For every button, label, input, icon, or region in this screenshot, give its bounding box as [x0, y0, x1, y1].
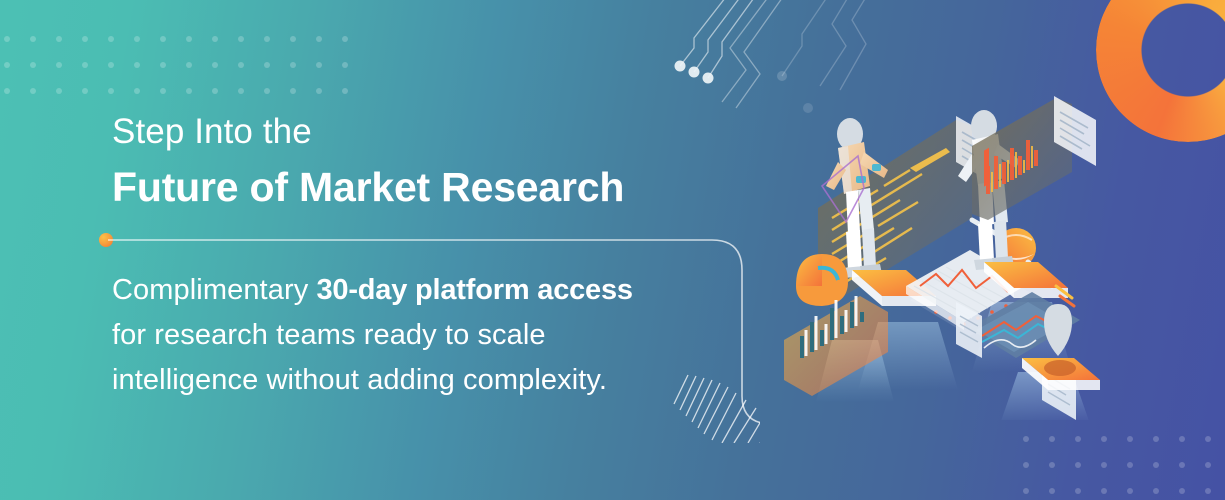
grid-dot — [316, 36, 322, 42]
trace-endpoint-dot — [675, 61, 686, 72]
body-line-3: intelligence without adding complexity. — [112, 358, 712, 403]
grid-dot — [30, 62, 36, 68]
grid-dot — [1179, 462, 1185, 468]
headline-main: Future of Market Research — [112, 163, 732, 211]
grid-dot — [1023, 462, 1029, 468]
grid-dot — [30, 36, 36, 42]
grid-dot — [186, 62, 192, 68]
grid-dot — [82, 88, 88, 94]
body-highlight-text: 30-day platform access — [316, 274, 632, 306]
grid-dot — [290, 62, 296, 68]
grid-dot — [342, 88, 348, 94]
grid-dot — [342, 62, 348, 68]
grid-dot — [1075, 462, 1081, 468]
grid-dot — [134, 36, 140, 42]
grid-dot — [1049, 462, 1055, 468]
grid-dot — [108, 62, 114, 68]
headline-eyebrow: Step Into the — [112, 112, 732, 151]
grid-dot — [134, 88, 140, 94]
grid-dot — [1023, 436, 1029, 442]
grid-dot — [30, 88, 36, 94]
grid-dot — [212, 88, 218, 94]
grid-dot — [186, 88, 192, 94]
grid-dot — [1127, 436, 1133, 442]
trace-endpoint-dot — [703, 73, 714, 84]
grid-dot — [1101, 488, 1107, 494]
isometric-analytics-illustration — [760, 90, 1160, 420]
grid-dot — [1127, 462, 1133, 468]
dot-grid-top-left — [4, 36, 358, 104]
grid-dot — [1153, 462, 1159, 468]
trace-endpoint-dot — [777, 71, 787, 81]
grid-dot — [238, 36, 244, 42]
promo-banner: Step Into the Future of Market Research … — [0, 0, 1225, 500]
grid-dot — [238, 88, 244, 94]
grid-dot — [56, 88, 62, 94]
bracket-accent-dot-icon — [99, 233, 113, 247]
grid-dot — [4, 36, 10, 42]
grid-dot — [342, 36, 348, 42]
body-copy-block: Complimentary 30-day platform access for… — [112, 268, 712, 403]
body-lead-text: Complimentary — [112, 274, 316, 306]
grid-dot — [160, 36, 166, 42]
grid-dot — [56, 62, 62, 68]
grid-dot — [264, 88, 270, 94]
trace-endpoint-dot — [689, 67, 700, 78]
grid-dot — [316, 62, 322, 68]
grid-dot — [108, 88, 114, 94]
grid-dot — [134, 62, 140, 68]
grid-dot — [290, 36, 296, 42]
grid-dot — [1205, 436, 1211, 442]
grid-dot — [1049, 436, 1055, 442]
grid-dot — [56, 36, 62, 42]
grid-dot — [238, 62, 244, 68]
grid-dot — [186, 36, 192, 42]
grid-dot — [264, 36, 270, 42]
grid-dot — [1179, 488, 1185, 494]
grid-dot — [1101, 436, 1107, 442]
grid-dot — [1101, 462, 1107, 468]
grid-dot — [1153, 436, 1159, 442]
grid-dot — [4, 62, 10, 68]
grid-dot — [1127, 488, 1133, 494]
grid-dot — [1205, 462, 1211, 468]
dot-grid-bottom-right — [1023, 436, 1225, 500]
grid-dot — [1205, 488, 1211, 494]
grid-dot — [1153, 488, 1159, 494]
grid-dot — [1075, 436, 1081, 442]
grid-dot — [1049, 488, 1055, 494]
grid-dot — [316, 88, 322, 94]
headline-block: Step Into the Future of Market Research — [112, 112, 732, 212]
grid-dot — [1179, 436, 1185, 442]
grid-dot — [290, 88, 296, 94]
grid-dot — [212, 36, 218, 42]
grid-dot — [82, 62, 88, 68]
grid-dot — [108, 36, 114, 42]
grid-dot — [212, 62, 218, 68]
grid-dot — [1023, 488, 1029, 494]
grid-dot — [264, 62, 270, 68]
grid-dot — [160, 88, 166, 94]
grid-dot — [160, 62, 166, 68]
grid-dot — [4, 88, 10, 94]
grid-dot — [82, 36, 88, 42]
body-line-1: Complimentary 30-day platform access — [112, 268, 712, 313]
pie-chart — [796, 254, 848, 306]
body-line-2: for research teams ready to scale — [112, 313, 712, 358]
grid-dot — [1075, 488, 1081, 494]
